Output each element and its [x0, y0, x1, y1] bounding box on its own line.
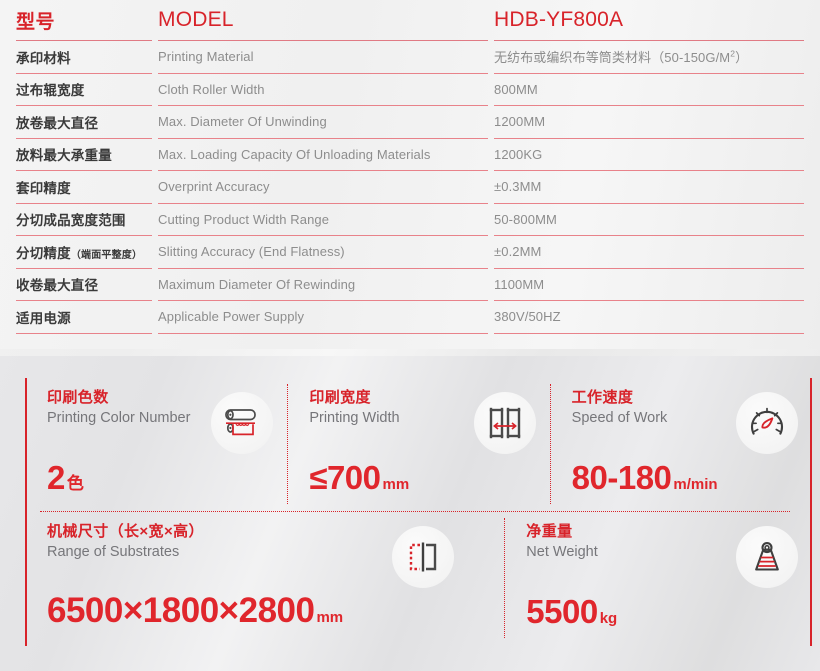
table-row: 收卷最大直径Maximum Diameter Of Rewinding1100M…: [16, 269, 804, 302]
row-value: 380V/50HZ: [494, 309, 561, 324]
table-row: 放卷最大直径Max. Diameter Of Unwinding1200MM: [16, 106, 804, 139]
value-superscript: 2: [730, 49, 735, 59]
spec-card: 印刷色数Printing Color Number 2色: [25, 378, 287, 512]
card-heading: 工作速度Speed of Work: [572, 378, 798, 426]
row-cell-value: 50-800MM: [494, 204, 804, 237]
card-value-unit: kg: [600, 610, 618, 627]
card-title-zh: 净重量: [526, 520, 798, 541]
spec-card: 工作速度Speed of Work 80-180m/min: [550, 378, 812, 512]
row-label-zh: 分切精度（端面平整度）: [16, 242, 142, 262]
row-label-en: Max. Loading Capacity Of Unloading Mater…: [158, 147, 430, 162]
header-cell-model-value: HDB-YF800A: [494, 0, 804, 41]
card-value-number: 5500: [526, 595, 597, 628]
row-label-zh: 放卷最大直径: [16, 112, 98, 132]
row-cell-label-en: Maximum Diameter Of Rewinding: [158, 269, 488, 302]
row-cell-label-en: Cloth Roller Width: [158, 74, 488, 107]
card-value-unit: mm: [383, 476, 410, 493]
card-value-number: 2: [47, 461, 65, 494]
card-heading: 净重量Net Weight: [526, 512, 798, 560]
row-cell-label-zh: 分切精度（端面平整度）: [16, 236, 152, 269]
header-model-value: HDB-YF800A: [494, 8, 623, 32]
row-cell-label-zh: 适用电源: [16, 301, 152, 334]
card-title-zh: 机械尺寸（长×宽×高）: [47, 520, 490, 541]
row-cell-label-zh: 套印精度: [16, 171, 152, 204]
card-title-en: Speed of Work: [572, 410, 798, 426]
product-spec-sheet: 型号 MODEL HDB-YF800A 承印材料Printing Materia…: [0, 0, 820, 671]
table-header-row: 型号 MODEL HDB-YF800A: [16, 0, 804, 41]
row-value: 1100MM: [494, 277, 544, 292]
spec-card: 净重量Net Weight 5500kg: [504, 512, 812, 646]
table-row: 适用电源Applicable Power Supply380V/50HZ: [16, 301, 804, 334]
row-cell-label-en: Overprint Accuracy: [158, 171, 488, 204]
header-label-zh: 型号: [16, 7, 55, 34]
row-label-zh: 过布辊宽度: [16, 79, 85, 99]
row-label-zh: 分切成品宽度范围: [16, 209, 126, 229]
spec-card: 机械尺寸（长×宽×高）Range of Substrates 6500×1800…: [25, 512, 504, 646]
row-value: 800MM: [494, 82, 538, 97]
row-value: ±0.2MM: [494, 244, 541, 259]
row-cell-label-zh: 放料最大承重量: [16, 139, 152, 172]
card-title-zh: 印刷宽度: [309, 386, 535, 407]
row-label-zh-paren: （端面平整度）: [71, 250, 142, 261]
header-cell-model-zh: 型号: [16, 0, 152, 41]
row-label-en: Slitting Accuracy (End Flatness): [158, 244, 345, 259]
card-title-zh: 印刷色数: [47, 386, 273, 407]
table-body: 承印材料Printing Material无纺布或编织布等筒类材料（50-150…: [16, 41, 804, 334]
row-label-en: Max. Diameter Of Unwinding: [158, 114, 327, 129]
row-cell-label-zh: 分切成品宽度范围: [16, 204, 152, 237]
row-cell-label-en: Cutting Product Width Range: [158, 204, 488, 237]
card-value-number: 6500×1800×2800: [47, 593, 314, 628]
card-value-unit: mm: [316, 609, 343, 626]
card-value-number: 80-180: [572, 461, 672, 494]
row-label-en: Cutting Product Width Range: [158, 212, 329, 227]
table-row: 套印精度Overprint Accuracy±0.3MM: [16, 171, 804, 204]
row-cell-value: ±0.3MM: [494, 171, 804, 204]
row-cell-label-en: Printing Material: [158, 41, 488, 74]
row-cell-label-en: Slitting Accuracy (End Flatness): [158, 236, 488, 269]
row-value: ±0.3MM: [494, 179, 541, 194]
row-label-zh: 承印材料: [16, 47, 71, 67]
card-value-group: 5500kg: [526, 595, 617, 628]
card-value-group: 2色: [47, 461, 84, 494]
row-cell-value: 1100MM: [494, 269, 804, 302]
row-label-en: Printing Material: [158, 49, 254, 64]
card-title-en: Net Weight: [526, 544, 798, 560]
table-row: 承印材料Printing Material无纺布或编织布等筒类材料（50-150…: [16, 41, 804, 74]
row-label-zh: 适用电源: [16, 307, 71, 327]
header-label-en: MODEL: [158, 8, 234, 32]
card-value-unit: 色: [67, 469, 84, 494]
row-cell-label-en: Applicable Power Supply: [158, 301, 488, 334]
row-cell-value: 380V/50HZ: [494, 301, 804, 334]
card-title-en: Printing Width: [309, 410, 535, 426]
card-row-top: 印刷色数Printing Color Number 2色印刷宽度Printing…: [25, 378, 812, 512]
row-cell-label-zh: 承印材料: [16, 41, 152, 74]
row-cell-label-en: Max. Loading Capacity Of Unloading Mater…: [158, 139, 488, 172]
row-cell-label-zh: 过布辊宽度: [16, 74, 152, 107]
spec-card: 印刷宽度Printing Width ≤700mm: [287, 378, 549, 512]
row-label-en: Overprint Accuracy: [158, 179, 270, 194]
row-cell-label-zh: 放卷最大直径: [16, 106, 152, 139]
row-cell-value: 1200KG: [494, 139, 804, 172]
row-cell-value: ±0.2MM: [494, 236, 804, 269]
row-label-zh: 收卷最大直径: [16, 274, 98, 294]
row-label-en: Cloth Roller Width: [158, 82, 265, 97]
table-row: 放料最大承重量Max. Loading Capacity Of Unloadin…: [16, 139, 804, 172]
table-row: 过布辊宽度Cloth Roller Width800MM: [16, 74, 804, 107]
card-title-zh: 工作速度: [572, 386, 798, 407]
row-label-en: Maximum Diameter Of Rewinding: [158, 277, 355, 292]
row-label-zh: 放料最大承重量: [16, 144, 112, 164]
row-value: 50-800MM: [494, 212, 557, 227]
row-cell-label-en: Max. Diameter Of Unwinding: [158, 106, 488, 139]
card-title-en: Range of Substrates: [47, 544, 490, 560]
card-row-bottom: 机械尺寸（长×宽×高）Range of Substrates 6500×1800…: [25, 512, 812, 646]
row-cell-label-zh: 收卷最大直径: [16, 269, 152, 302]
card-heading: 印刷宽度Printing Width: [309, 378, 535, 426]
row-value: 无纺布或编织布等筒类材料（50-150G/M2）: [494, 47, 748, 66]
card-value-group: 80-180m/min: [572, 461, 718, 494]
specification-table: 型号 MODEL HDB-YF800A 承印材料Printing Materia…: [0, 0, 820, 349]
table-row: 分切成品宽度范围Cutting Product Width Range50-80…: [16, 204, 804, 237]
table-row: 分切精度（端面平整度）Slitting Accuracy (End Flatne…: [16, 236, 804, 269]
row-cell-value: 800MM: [494, 74, 804, 107]
row-value: 1200KG: [494, 147, 542, 162]
card-value-number: ≤700: [309, 461, 380, 494]
card-value-unit: m/min: [673, 476, 717, 493]
card-heading: 机械尺寸（长×宽×高）Range of Substrates: [47, 512, 490, 560]
card-heading: 印刷色数Printing Color Number: [47, 378, 273, 426]
highlight-spec-panel: 印刷色数Printing Color Number 2色印刷宽度Printing…: [0, 356, 820, 671]
row-cell-value: 无纺布或编织布等筒类材料（50-150G/M2）: [494, 41, 804, 74]
row-cell-value: 1200MM: [494, 106, 804, 139]
card-value-group: ≤700mm: [309, 461, 409, 494]
card-value-group: 6500×1800×2800mm: [47, 593, 343, 628]
row-value: 1200MM: [494, 114, 545, 129]
header-cell-model-en: MODEL: [158, 0, 488, 41]
row-label-en: Applicable Power Supply: [158, 309, 304, 324]
row-label-zh: 套印精度: [16, 177, 71, 197]
card-title-en: Printing Color Number: [47, 410, 273, 426]
